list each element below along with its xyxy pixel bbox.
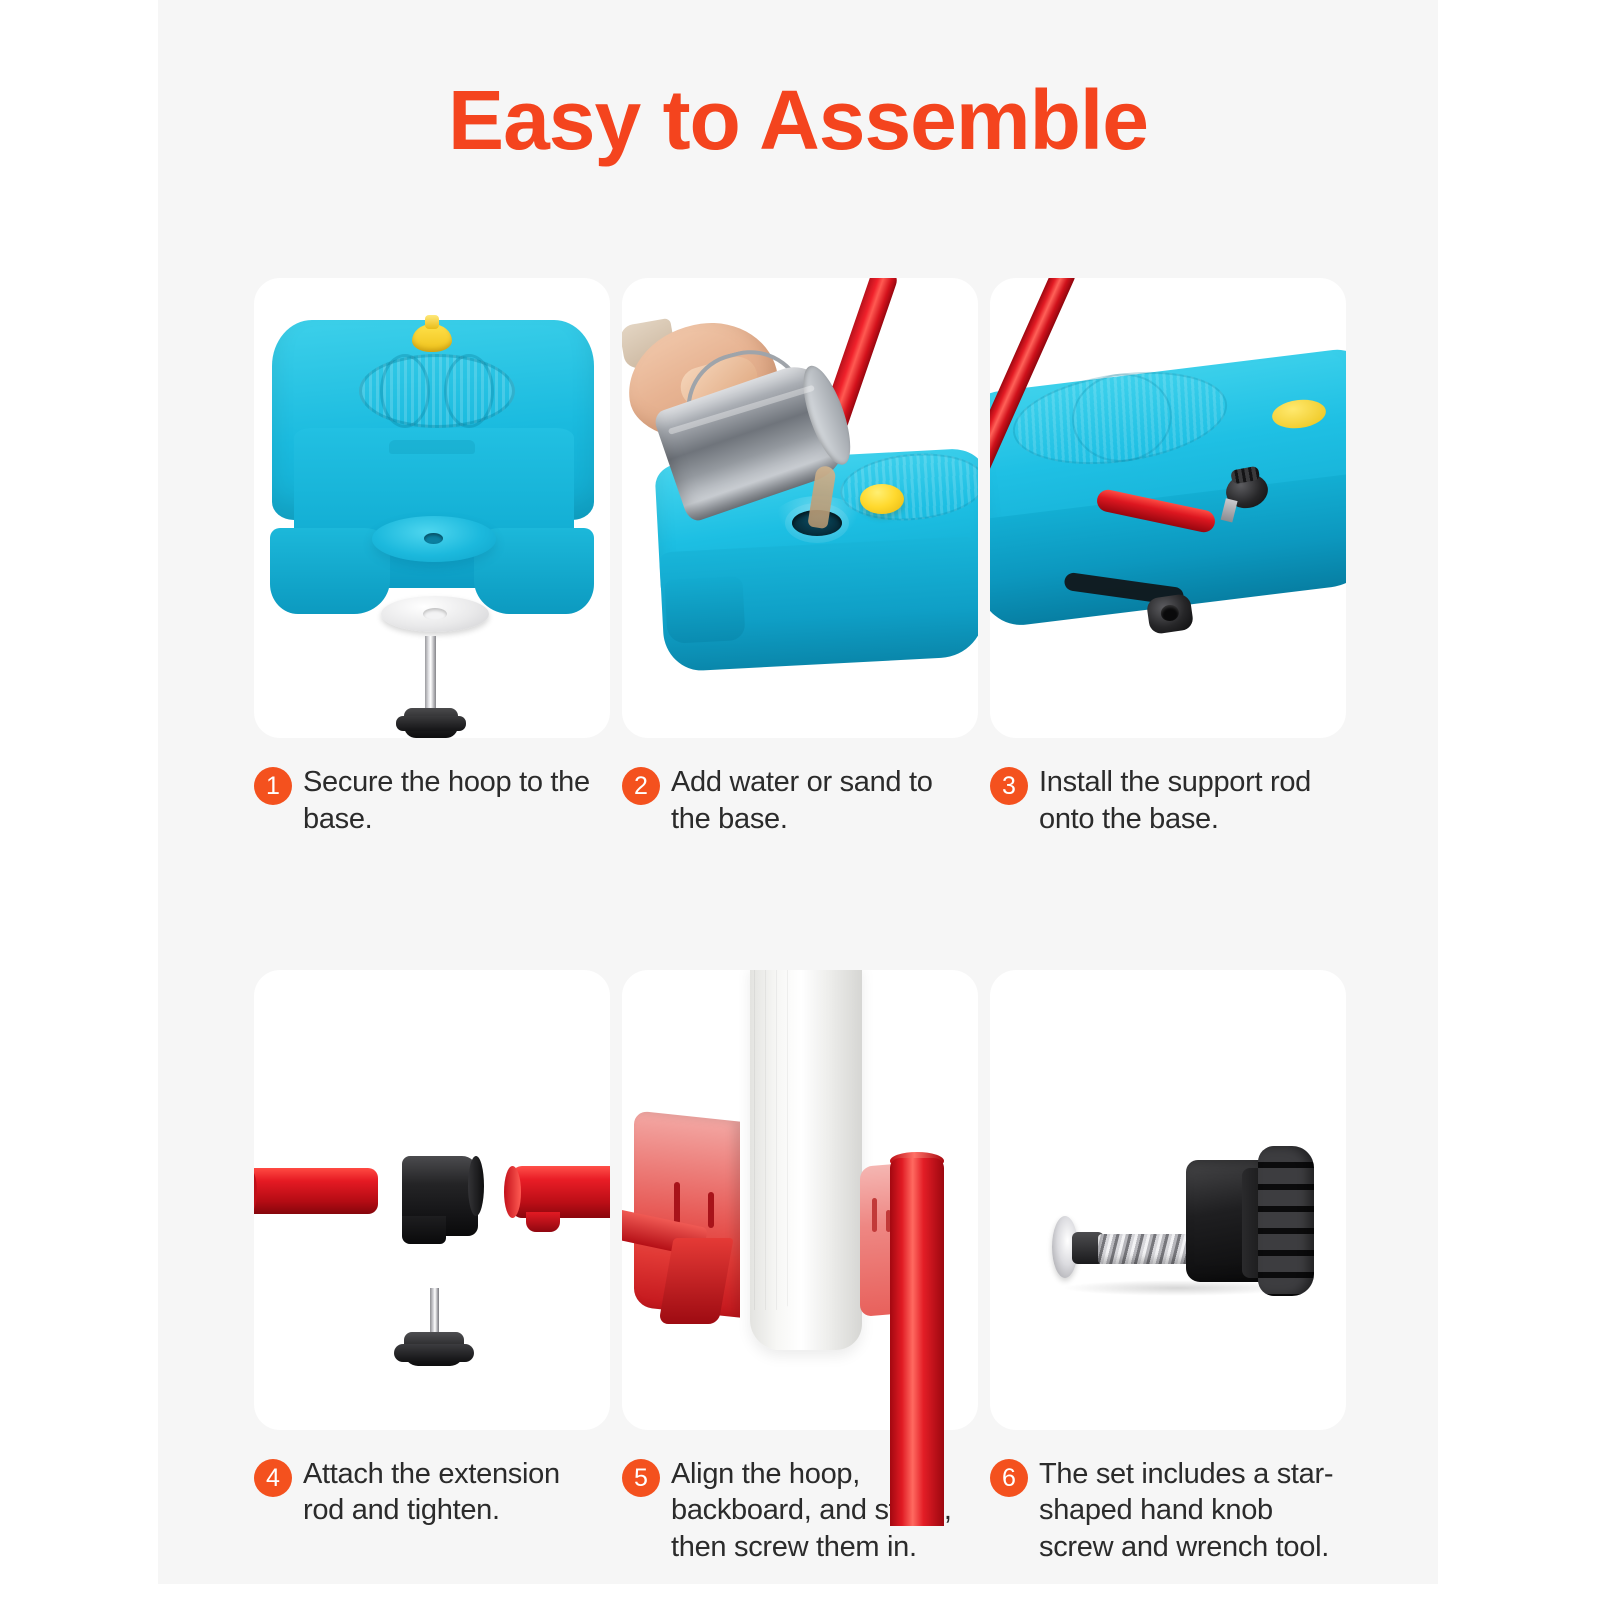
base-slot — [389, 440, 475, 454]
star-knob-ridges-icon — [1258, 1146, 1314, 1296]
content-canvas: Easy to Assemble — [158, 0, 1438, 1584]
step-image-clip-3 — [990, 278, 1346, 738]
bracket-slot-1 — [674, 1182, 680, 1224]
step-caption-3: 3 Install the support rod onto the base. — [990, 764, 1346, 838]
extension-rod-illustration — [254, 970, 610, 1430]
yellow-fill-cap-icon — [412, 324, 452, 352]
step-image-clip-1 — [254, 278, 610, 738]
base-with-bolt-illustration — [254, 278, 610, 738]
red-pole-secondary-icon — [990, 278, 996, 361]
black-knob-icon — [404, 708, 458, 738]
step-image-clip-6 — [990, 970, 1346, 1430]
infographic-page: Easy to Assemble — [0, 0, 1600, 1600]
step-number-badge-4: 4 — [254, 1459, 292, 1497]
black-knob-screw-icon — [404, 1332, 464, 1366]
step-image-card-1 — [254, 278, 610, 738]
step-caption-text-3: Install the support rod onto the base. — [1039, 764, 1342, 838]
base-mounting-hub — [372, 516, 496, 562]
step-caption-text-4: Attach the extension rod and tighten. — [303, 1456, 606, 1530]
basketball-texture-icon — [359, 354, 515, 428]
step-caption-text-2: Add water or sand to the base. — [671, 764, 974, 838]
base-foot-left — [664, 576, 745, 644]
red-stand-pole-overflow — [890, 1430, 944, 1526]
step-image-card-6 — [990, 970, 1346, 1430]
step-cell-2: 2 Add water or sand to the base. — [622, 278, 978, 838]
step-cell-1: 1 Secure the hoop to the base. — [254, 278, 610, 838]
step-number-badge-3: 3 — [990, 767, 1028, 805]
step-caption-text-6: The set includes a star-shaped hand knob… — [1039, 1456, 1342, 1566]
black-knob-nut-icon — [1146, 593, 1195, 635]
red-stand-pole-icon — [890, 1158, 944, 1430]
step-image-card-5 — [622, 970, 978, 1430]
red-tube-left-icon — [254, 1168, 378, 1214]
support-rod-install-illustration — [990, 278, 1346, 738]
steps-row-1: 1 Secure the hoop to the base. — [254, 278, 1348, 838]
step-caption-4: 4 Attach the extension rod and tighten. — [254, 1456, 610, 1530]
align-hoop-backboard-illustration — [622, 970, 978, 1430]
tube-nub — [526, 1212, 560, 1232]
red-tube-right-icon — [512, 1166, 610, 1218]
connector-tab — [402, 1216, 446, 1244]
step-image-card-2 — [622, 278, 978, 738]
step-number-badge-1: 1 — [254, 767, 292, 805]
pouring-sand-illustration — [622, 278, 978, 738]
steps-row-2: 4 Attach the extension rod and tighten. — [254, 970, 1348, 1566]
step-cell-3: 3 Install the support rod onto the base. — [990, 278, 1346, 838]
step-number-badge-5: 5 — [622, 1459, 660, 1497]
step-caption-2: 2 Add water or sand to the base. — [622, 764, 978, 838]
step-caption-6: 6 The set includes a star-shaped hand kn… — [990, 1456, 1346, 1566]
step-number-badge-2: 2 — [622, 767, 660, 805]
screw-shaft — [430, 1288, 439, 1336]
step-cell-5: 5 Align the hoop, backboard, and stand, … — [622, 970, 978, 1566]
metal-washer-icon — [381, 596, 489, 632]
knob-screw-and-wrench-illustration — [990, 970, 1346, 1430]
step-number-badge-6: 6 — [990, 1459, 1028, 1497]
step-cell-4: 4 Attach the extension rod and tighten. — [254, 970, 610, 1566]
backboard-ribs — [754, 970, 796, 1310]
page-title: Easy to Assemble — [158, 72, 1438, 169]
step-cell-6: 6 The set includes a star-shaped hand kn… — [990, 970, 1346, 1566]
bolt-shaft — [425, 636, 436, 716]
steps-grid: 1 Secure the hoop to the base. — [254, 278, 1348, 1566]
yellow-fill-cap-icon — [860, 484, 904, 514]
step-image-clip-2 — [622, 278, 978, 738]
step-image-clip-4 — [254, 970, 610, 1430]
plate-slot-1 — [872, 1198, 877, 1232]
step-caption-1: 1 Secure the hoop to the base. — [254, 764, 610, 838]
bracket-slot-2 — [708, 1192, 714, 1228]
step-image-clip-5 — [622, 970, 978, 1430]
step-caption-text-1: Secure the hoop to the base. — [303, 764, 606, 838]
step-image-card-4 — [254, 970, 610, 1430]
step-image-card-3 — [990, 278, 1346, 738]
